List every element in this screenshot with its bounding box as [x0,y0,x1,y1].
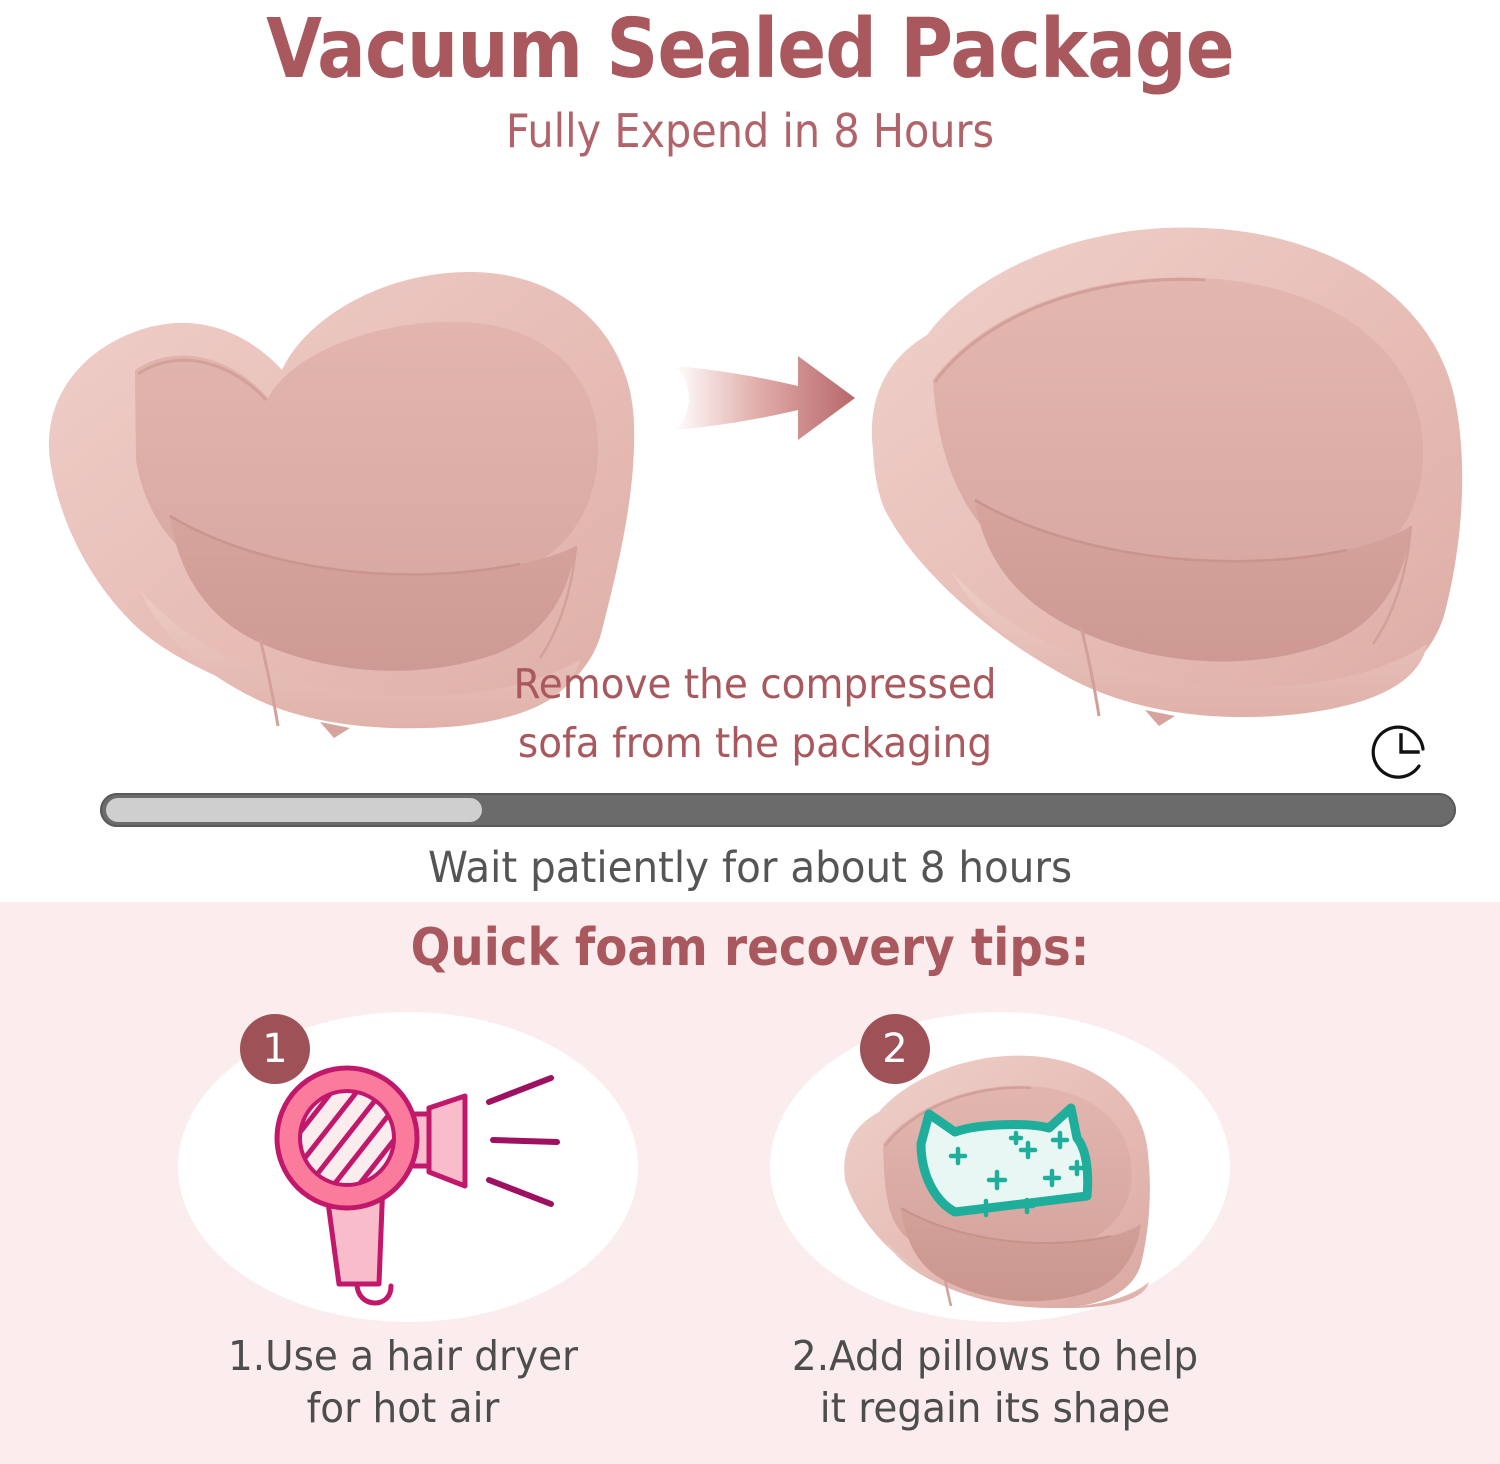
expanded-sofa-image [855,150,1495,730]
expansion-progress-bar[interactable] [100,793,1456,827]
tip-card-hair-dryer: 1 1.Use a hair dryer for hot air [108,1000,698,1440]
remove-instruction-line-2: sofa from the packaging [446,714,1064,773]
wait-instruction-text: Wait patiently for about 8 hours [45,843,1455,893]
tip-caption-2-line-2: it regain its shape [715,1382,1276,1434]
progress-fill [106,798,482,822]
remove-instruction-text: Remove the compressed sofa from the pack… [446,655,1064,774]
tips-heading: Quick foam recovery tips: [75,918,1425,978]
tip-badge-2: 2 [860,1014,930,1084]
tip-caption-2: 2.Add pillows to help it regain its shap… [715,1330,1276,1435]
tip-caption-1-line-2: for hot air [123,1382,684,1434]
vacuum-package-section: Vacuum Sealed Package Fully Expend in 8 … [0,0,1500,902]
tip-badge-1: 1 [240,1014,310,1084]
right-arrow-icon [672,348,857,448]
sofa-with-pillow-icon [805,1040,1195,1310]
tip-caption-2-line-1: 2.Add pillows to help [715,1330,1276,1382]
tip-caption-1-line-1: 1.Use a hair dryer [123,1330,684,1382]
tip-caption-1: 1.Use a hair dryer for hot air [123,1330,684,1435]
tip-card-add-pillow: 2 2.Add pillows to help it regain its sh… [700,1000,1290,1440]
compressed-sofa-image [20,160,680,740]
clock-icon [1368,718,1434,784]
page-title: Vacuum Sealed Package [90,2,1410,97]
recovery-tips-section: Quick foam recovery tips: [0,902,1500,1464]
infographic-page: Vacuum Sealed Package Fully Expend in 8 … [0,0,1500,1464]
remove-instruction-line-1: Remove the compressed [446,655,1064,714]
